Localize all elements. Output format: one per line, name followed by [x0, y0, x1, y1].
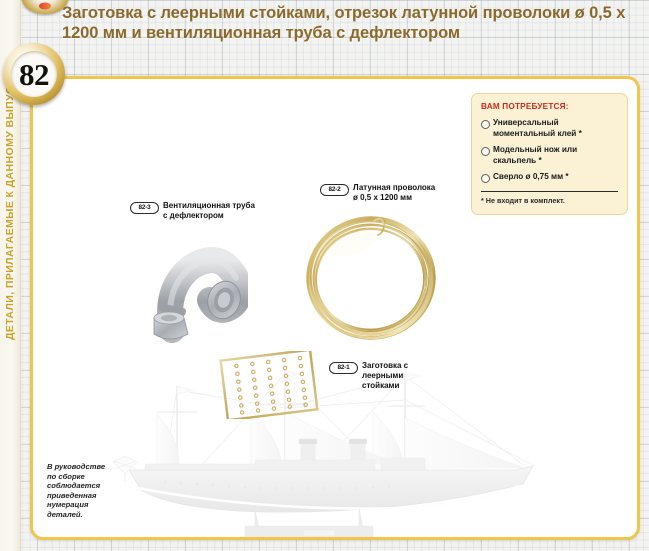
- railing-fret-image: [219, 351, 319, 419]
- part-tag: 82-2: [320, 184, 349, 196]
- issue-number-badge-inner: 82: [11, 51, 57, 97]
- part-tag: 82-3: [130, 202, 159, 214]
- material-item[interactable]: Универсальный моментальный клей *: [481, 118, 618, 139]
- page-title: Заготовка с леерными стойками, отрезок л…: [62, 3, 637, 43]
- material-item[interactable]: Модельный нож или скальпель *: [481, 145, 618, 166]
- callout-vent-pipe: 82-3 Вентиляционная труба с дефлектором: [130, 201, 280, 221]
- callout-railing-fret: 82-1 Заготовка с леерными стойками: [329, 361, 439, 391]
- materials-footnote: * Не входит в комплект.: [481, 196, 618, 205]
- part-label: Заготовка с леерными стойками: [362, 361, 408, 391]
- checkbox-circle-icon[interactable]: [481, 147, 490, 156]
- logo-accent-dot: [39, 3, 51, 10]
- materials-needed-heading: ВАМ ПОТРЕБУЕТСЯ:: [481, 102, 618, 111]
- parts-card: 82-3 Вентиляционная труба с дефлектором …: [30, 76, 640, 540]
- part-label: Латунная проволока ø 0,5 x 1200 мм: [353, 183, 435, 203]
- checkbox-circle-icon[interactable]: [481, 174, 490, 183]
- part-label: Вентиляционная труба с дефлектором: [163, 201, 255, 221]
- brass-wire-coil-image: [296, 212, 446, 344]
- part-tag: 82-1: [329, 362, 358, 374]
- material-item[interactable]: Сверло ø 0,75 мм *: [481, 172, 618, 183]
- material-item-label: Универсальный моментальный клей *: [493, 118, 582, 138]
- issue-number-badge: 82: [3, 43, 65, 105]
- materials-needed-box: ВАМ ПОТРЕБУЕТСЯ: Универсальный моменталь…: [471, 93, 628, 215]
- vent-pipe-image: [138, 244, 248, 344]
- issue-number: 82: [19, 59, 49, 90]
- materials-needed-list: Универсальный моментальный клей * Модель…: [481, 118, 618, 183]
- material-item-label: Модельный нож или скальпель *: [493, 145, 577, 165]
- numbering-note: В руководстве по сборке соблюдается прив…: [47, 462, 133, 520]
- divider: [481, 191, 618, 192]
- material-item-label: Сверло ø 0,75 мм *: [493, 172, 569, 181]
- checkbox-circle-icon[interactable]: [481, 120, 490, 129]
- callout-brass-wire: 82-2 Латунная проволока ø 0,5 x 1200 мм: [320, 183, 455, 203]
